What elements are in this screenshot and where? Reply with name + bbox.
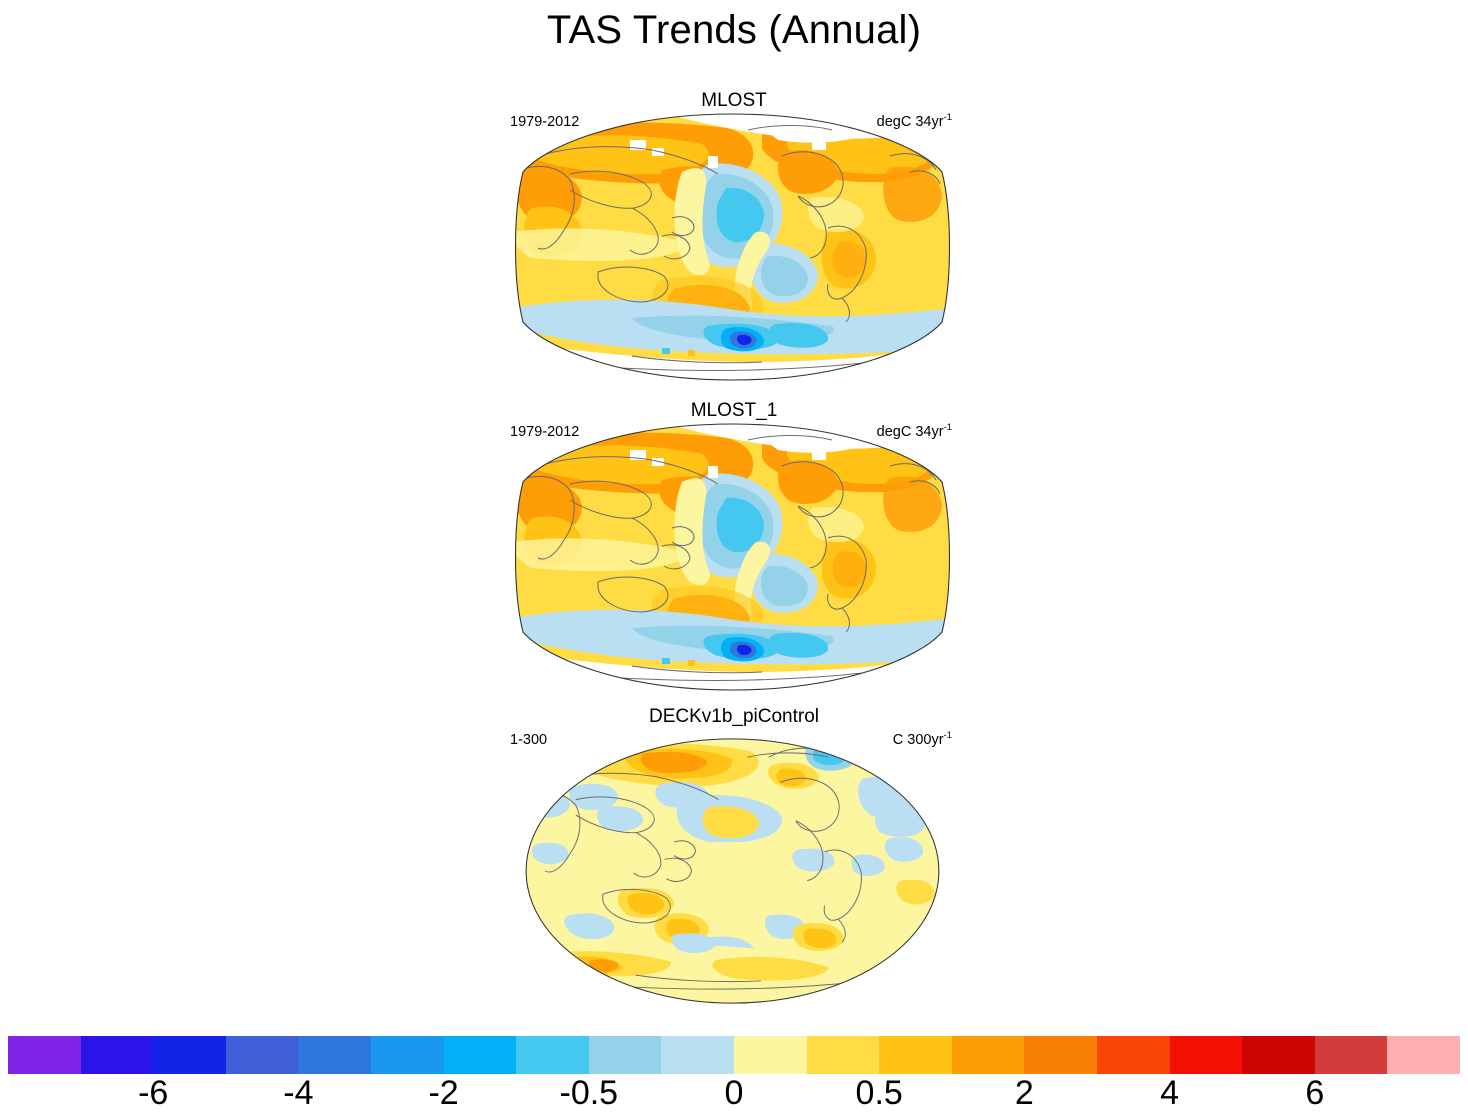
panel-title: MLOST_1 bbox=[0, 400, 1468, 422]
colorbar-tick-0.5: 0.5 bbox=[856, 1074, 903, 1113]
map-canvas bbox=[512, 112, 953, 382]
colorbar-cell-11[interactable] bbox=[807, 1036, 880, 1074]
colorbar-tick--4: -4 bbox=[283, 1074, 313, 1113]
colorbar-cell-13[interactable] bbox=[952, 1036, 1025, 1074]
colorbar-cell-7[interactable] bbox=[516, 1036, 589, 1074]
colorbar-tick--2: -2 bbox=[428, 1074, 458, 1113]
colorbar[interactable] bbox=[8, 1036, 1460, 1074]
colorbar-cell-2[interactable] bbox=[153, 1036, 226, 1074]
colorbar-tick--0.5: -0.5 bbox=[560, 1074, 619, 1113]
colorbar-cell-3[interactable] bbox=[226, 1036, 299, 1074]
colorbar-cell-15[interactable] bbox=[1097, 1036, 1170, 1074]
colorbar-cell-16[interactable] bbox=[1170, 1036, 1243, 1074]
colorbar-cell-18[interactable] bbox=[1315, 1036, 1388, 1074]
colorbar-cell-14[interactable] bbox=[1024, 1036, 1097, 1074]
colorbar-cell-0[interactable] bbox=[8, 1036, 81, 1074]
colorbar-cell-12[interactable] bbox=[879, 1036, 952, 1074]
colorbar-cell-8[interactable] bbox=[589, 1036, 662, 1074]
panel-title: MLOST bbox=[0, 90, 1468, 112]
colorbar-cell-4[interactable] bbox=[298, 1036, 371, 1074]
colorbar-tick-0: 0 bbox=[725, 1074, 744, 1113]
colorbar-cell-5[interactable] bbox=[371, 1036, 444, 1074]
colorbar-tick--6: -6 bbox=[138, 1074, 168, 1113]
panel-title: DECKv1b_piControl bbox=[0, 706, 1468, 728]
colorbar-cell-6[interactable] bbox=[444, 1036, 517, 1074]
colorbar-tick-6: 6 bbox=[1305, 1074, 1324, 1113]
colorbar-tick-labels: -6-4-2-0.500.5246 bbox=[0, 1074, 1468, 1116]
colorbar-tick-2: 2 bbox=[1015, 1074, 1034, 1113]
colorbar-cell-1[interactable] bbox=[81, 1036, 154, 1074]
colorbar-tick-4: 4 bbox=[1160, 1074, 1179, 1113]
figure-title: TAS Trends (Annual) bbox=[0, 8, 1468, 53]
colorbar-cell-19[interactable] bbox=[1387, 1036, 1460, 1074]
colorbar-cell-17[interactable] bbox=[1242, 1036, 1315, 1074]
colorbar-cell-10[interactable] bbox=[734, 1036, 807, 1074]
map-canvas bbox=[512, 422, 953, 692]
map-canvas bbox=[512, 736, 953, 1016]
colorbar-cell-9[interactable] bbox=[661, 1036, 734, 1074]
